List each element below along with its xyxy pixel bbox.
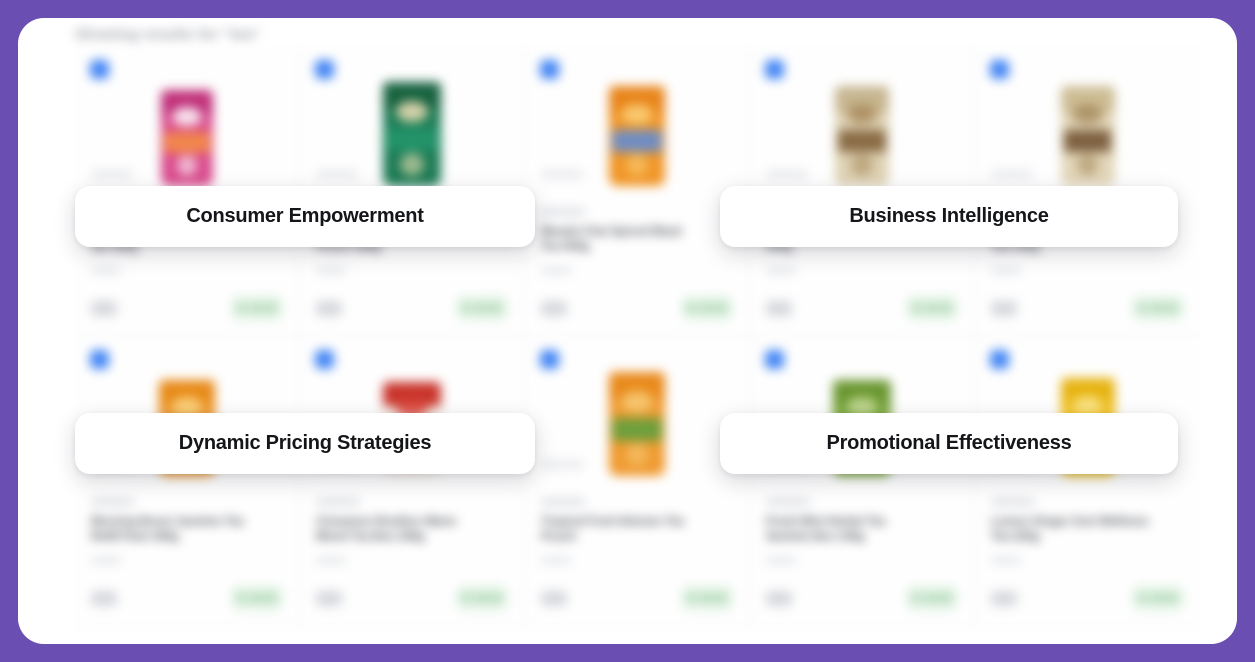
product-title: Cinnamon Rooibos Warm Blend Tea Box 240g: [316, 515, 476, 545]
product-select-checkbox[interactable]: [765, 60, 784, 79]
product-select-checkbox[interactable]: [765, 350, 784, 369]
product-brand-tag: [541, 498, 585, 506]
product-card-footer: In stock: [991, 295, 1184, 325]
category-label-text: Business Intelligence: [849, 205, 1048, 228]
product-select-checkbox[interactable]: [315, 60, 334, 79]
category-label-pill-dynamic-pricing-strategies[interactable]: Dynamic Pricing Strategies: [75, 413, 535, 474]
product-unit-meta: [541, 557, 571, 564]
product-select-checkbox[interactable]: [990, 60, 1009, 79]
product-image: [1061, 64, 1115, 186]
product-title: Lemon Ginger Zest Wellness Tea 220g: [991, 515, 1151, 545]
product-image: [161, 64, 213, 186]
product-select-checkbox[interactable]: [90, 350, 109, 369]
product-card-footer: In stock: [766, 585, 958, 615]
content-panel: Showing results for "tea" Premium Berry …: [18, 18, 1237, 644]
product-brand-tag: [541, 208, 585, 216]
product-price: [766, 591, 792, 606]
product-image-badge: [316, 170, 358, 179]
product-card[interactable]: Cinnamon Rooibos Warm Blend Tea Box 240g…: [300, 336, 525, 626]
blurred-app-background: Showing results for "tea" Premium Berry …: [18, 18, 1237, 644]
product-card-footer: In stock: [991, 585, 1184, 615]
product-unit-meta: [991, 557, 1021, 564]
product-card-footer: In stock: [766, 295, 958, 325]
product-stock-badge: In stock: [681, 295, 733, 321]
product-price: [991, 591, 1017, 606]
product-unit-meta: [766, 557, 796, 564]
product-card[interactable]: Morning Boost Jasmine Tea Refill Pack 30…: [75, 336, 300, 626]
product-select-checkbox[interactable]: [90, 60, 109, 79]
product-title: Fresh Mint Herbal Tea Sachets Box 100g: [766, 515, 926, 545]
product-price: [91, 301, 117, 316]
product-title: Morning Boost Jasmine Tea Refill Pack 30…: [91, 515, 251, 545]
product-stock-badge: In stock: [681, 585, 733, 611]
product-price: [91, 591, 117, 606]
product-unit-meta: [91, 557, 121, 564]
category-label-text: Dynamic Pricing Strategies: [179, 432, 431, 455]
product-stock-badge: In stock: [906, 585, 958, 611]
category-label-text: Promotional Effectiveness: [827, 432, 1072, 455]
product-image-badge: [91, 170, 133, 179]
product-brand-tag: [91, 498, 135, 506]
product-price: [316, 301, 342, 316]
product-card[interactable]: Fresh Mint Herbal Tea Sachets Box 100g I…: [750, 336, 975, 626]
product-unit-meta: [991, 267, 1021, 274]
product-card[interactable]: Masala Chai Spiced Black Tea 500g In sto…: [525, 46, 750, 336]
product-unit-meta: [541, 267, 571, 274]
product-select-checkbox[interactable]: [540, 350, 559, 369]
app-frame: Showing results for "tea" Premium Berry …: [0, 0, 1255, 662]
product-select-checkbox[interactable]: [990, 350, 1009, 369]
product-price: [766, 301, 792, 316]
product-stock-badge: In stock: [231, 585, 283, 611]
product-stock-badge: In stock: [1132, 585, 1184, 611]
product-stock-badge: In stock: [231, 295, 283, 321]
product-image-badge: [541, 170, 583, 179]
product-stock-badge: In stock: [1132, 295, 1184, 321]
product-image-badge: [991, 170, 1033, 179]
product-card-footer: In stock: [91, 585, 283, 615]
product-title: Masala Chai Spiced Black Tea 500g: [541, 225, 701, 255]
product-card[interactable]: Tropical Fruit Infusion Tea Pouch In sto…: [525, 336, 750, 626]
product-unit-meta: [316, 557, 346, 564]
product-image-badge: [541, 460, 583, 469]
product-stock-badge: In stock: [906, 295, 958, 321]
category-label-text: Consumer Empowerment: [186, 205, 423, 228]
product-image-badge: [766, 170, 808, 179]
category-label-pill-promotional-effectiveness[interactable]: Promotional Effectiveness: [720, 413, 1178, 474]
product-unit-meta: [91, 267, 121, 274]
product-image: [609, 64, 665, 186]
product-stock-badge: In stock: [456, 295, 508, 321]
product-image: [609, 354, 665, 476]
category-label-pill-business-intelligence[interactable]: Business Intelligence: [720, 186, 1178, 247]
product-card-footer: In stock: [316, 585, 508, 615]
product-brand-tag: [316, 498, 360, 506]
product-price: [316, 591, 342, 606]
product-price: [541, 591, 567, 606]
product-stock-badge: In stock: [456, 585, 508, 611]
product-title: Tropical Fruit Infusion Tea Pouch: [541, 515, 701, 545]
product-brand-tag: [766, 498, 810, 506]
product-results-grid[interactable]: Premium Berry Hibiscus Tea Jar 250g In s…: [75, 46, 1200, 626]
product-unit-meta: [766, 267, 796, 274]
product-card[interactable]: Lemon Ginger Zest Wellness Tea 220g In s…: [975, 336, 1200, 626]
product-price: [991, 301, 1017, 316]
product-brand-tag: [991, 498, 1035, 506]
product-select-checkbox[interactable]: [540, 60, 559, 79]
search-results-header: Showing results for "tea": [75, 26, 260, 43]
product-select-checkbox[interactable]: [315, 350, 334, 369]
product-price: [541, 301, 567, 316]
product-unit-meta: [316, 267, 346, 274]
product-image: [835, 64, 889, 186]
category-label-pill-consumer-empowerment[interactable]: Consumer Empowerment: [75, 186, 535, 247]
product-card-footer: In stock: [316, 295, 508, 325]
product-card-footer: In stock: [91, 295, 283, 325]
product-image: [383, 64, 441, 186]
product-card-footer: In stock: [541, 295, 733, 325]
product-card-footer: In stock: [541, 585, 733, 615]
